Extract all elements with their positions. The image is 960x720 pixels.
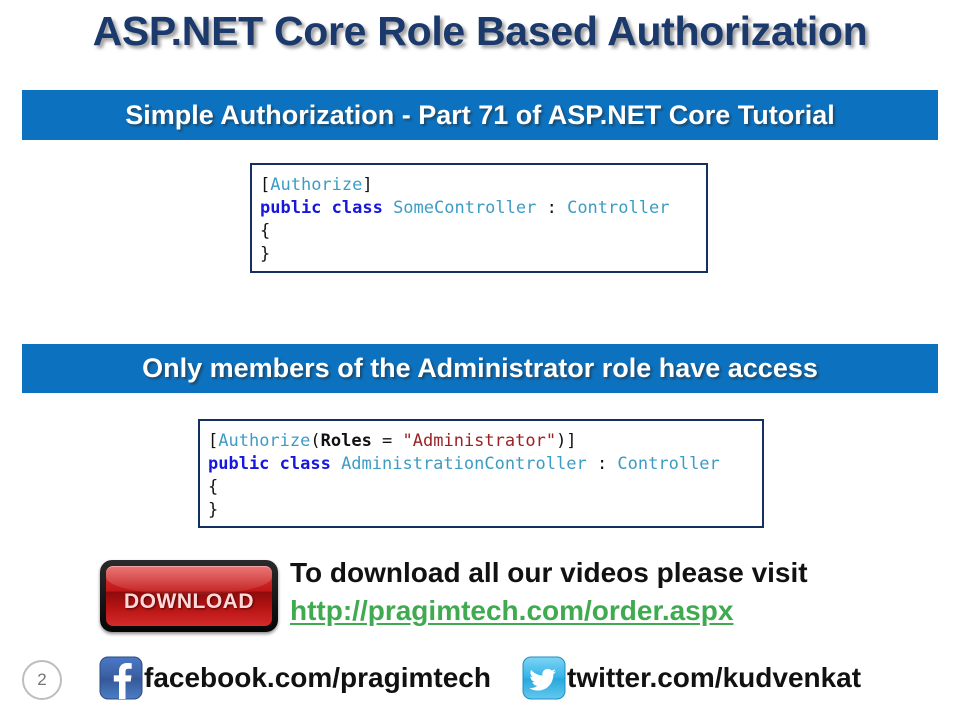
download-button-label: DOWNLOAD: [124, 590, 254, 614]
code-token-plain: :: [536, 198, 567, 218]
download-url-link[interactable]: http://pragimtech.com/order.aspx: [290, 594, 733, 628]
code-line: {: [260, 220, 706, 243]
download-text-group: To download all our videos please visit …: [290, 556, 910, 628]
facebook-handle: facebook.com/pragimtech: [144, 659, 491, 697]
download-caption: To download all our videos please visit: [290, 556, 910, 590]
code-token-keyword: public class: [260, 198, 393, 218]
code-token-plain: }: [260, 244, 270, 264]
code-token-keyword: public class: [208, 454, 341, 474]
page-title: ASP.NET Core Role Based Authorization: [0, 8, 960, 55]
code-token-plain: :: [587, 454, 618, 474]
slide-footer: 2 facebook.com/pragimtech: [0, 652, 960, 720]
twitter-link[interactable]: twitter.com/kudvenkat: [522, 656, 861, 700]
code-token-plain: {: [208, 477, 218, 497]
code-token-plain: ]: [362, 175, 372, 195]
code-block-role-authorize: [Authorize(Roles = "Administrator")]publ…: [198, 419, 764, 528]
code-line: }: [260, 243, 706, 266]
code-line: }: [208, 499, 762, 522]
code-token-type: Controller: [567, 198, 669, 218]
facebook-icon: [99, 656, 143, 700]
code-token-type: Authorize: [218, 431, 310, 451]
code-line: [Authorize]: [260, 174, 706, 197]
code-token-ident: Roles: [321, 431, 372, 451]
download-button-face: DOWNLOAD: [106, 566, 272, 626]
code-line: public class AdministrationController : …: [208, 453, 762, 476]
banner-administrator-role: Only members of the Administrator role h…: [22, 344, 938, 393]
code-token-type: Controller: [617, 454, 719, 474]
code-line: [Authorize(Roles = "Administrator")]: [208, 430, 762, 453]
code-token-type: Authorize: [270, 175, 362, 195]
twitter-icon: [522, 656, 566, 700]
banner-simple-authorization: Simple Authorization - Part 71 of ASP.NE…: [22, 90, 938, 140]
download-button[interactable]: DOWNLOAD: [100, 560, 278, 632]
code-token-type: SomeController: [393, 198, 536, 218]
code-token-type: AdministrationController: [341, 454, 587, 474]
page-number-badge: 2: [22, 660, 62, 700]
code-token-plain: [: [208, 431, 218, 451]
download-section: DOWNLOAD To download all our videos plea…: [0, 556, 960, 640]
code-token-plain: [: [260, 175, 270, 195]
twitter-handle: twitter.com/kudvenkat: [567, 659, 861, 697]
code-token-plain: }: [208, 500, 218, 520]
code-token-plain: (: [310, 431, 320, 451]
slide-canvas: ASP.NET Core Role Based Authorization Si…: [0, 0, 960, 720]
code-line: public class SomeController : Controller: [260, 197, 706, 220]
code-block-simple-authorize: [Authorize]public class SomeController :…: [250, 163, 708, 273]
facebook-link[interactable]: facebook.com/pragimtech: [99, 656, 491, 700]
code-token-plain: =: [372, 431, 403, 451]
code-token-string: "Administrator": [403, 431, 557, 451]
code-line: {: [208, 476, 762, 499]
code-token-plain: )]: [556, 431, 576, 451]
code-token-plain: {: [260, 221, 270, 241]
